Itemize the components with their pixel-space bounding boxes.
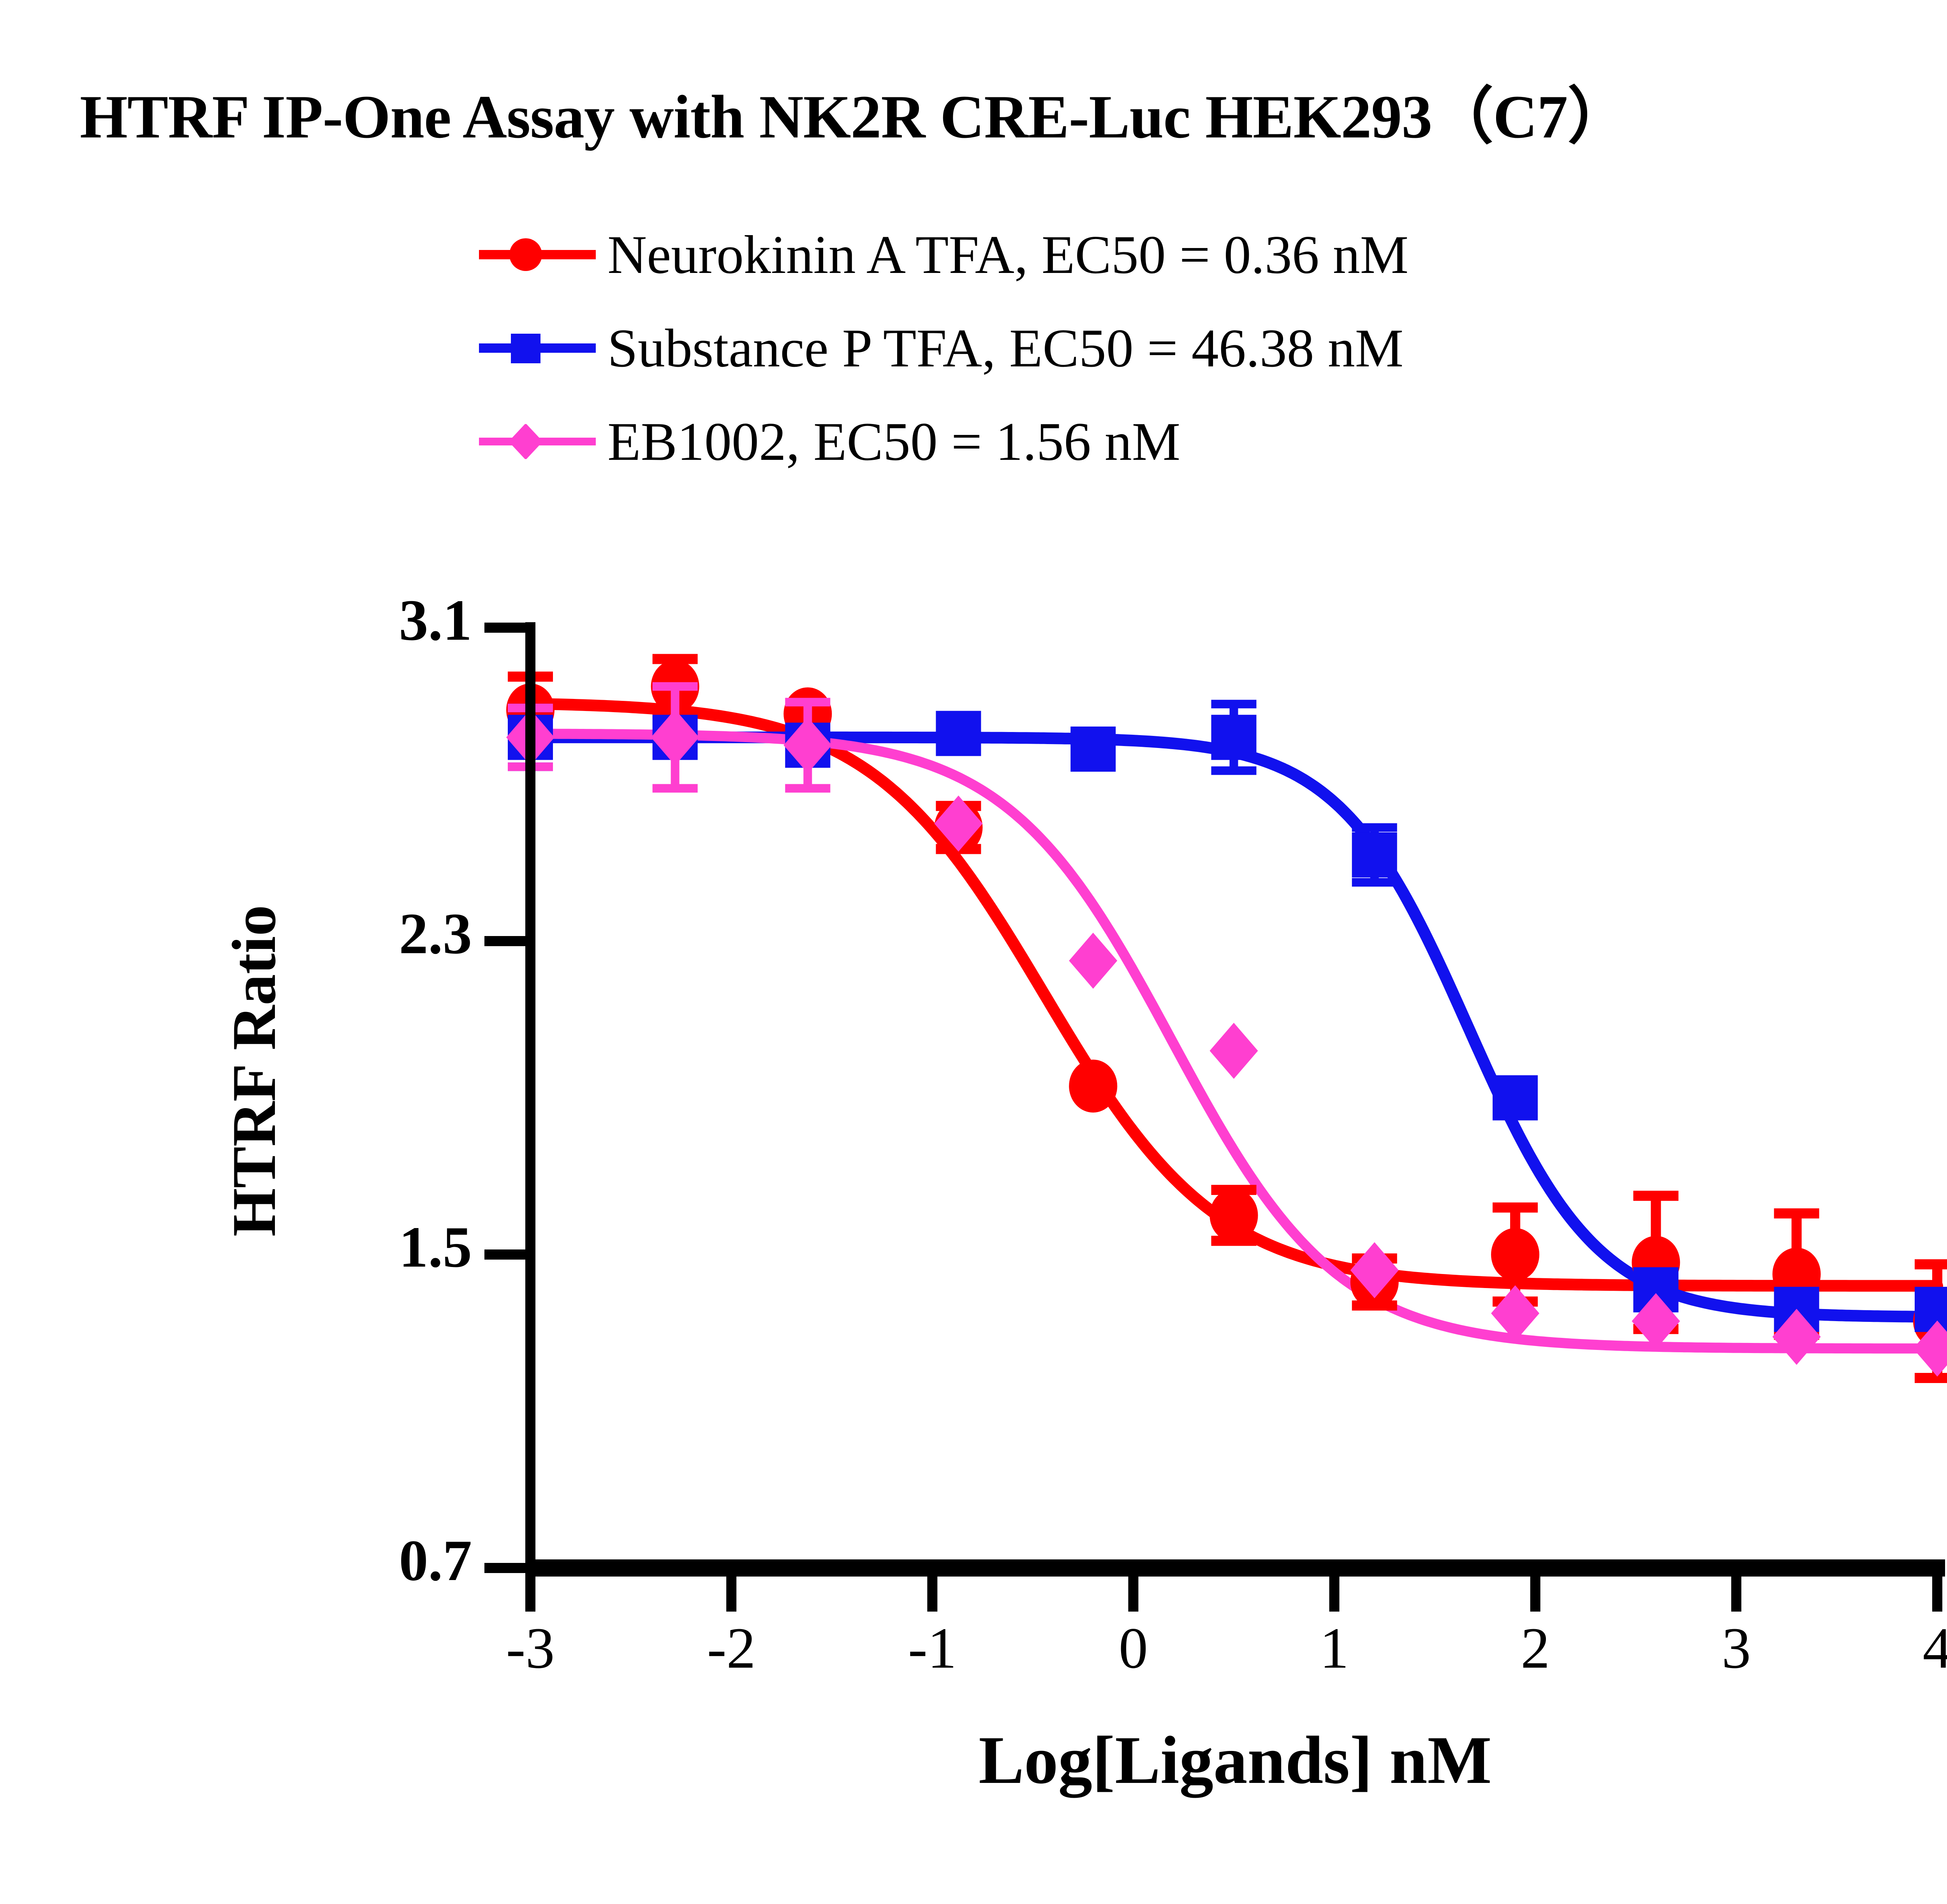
data-point-square[interactable] bbox=[1070, 727, 1116, 772]
data-point-square[interactable] bbox=[1211, 715, 1257, 760]
data-point-square[interactable] bbox=[936, 711, 981, 756]
data-point-square[interactable] bbox=[1915, 1287, 1947, 1332]
data-point-square[interactable] bbox=[1352, 832, 1397, 878]
x-tick-label: 4 bbox=[1859, 1615, 1947, 1682]
data-point-circle[interactable] bbox=[1491, 1228, 1539, 1281]
x-axis-label: Log[Ligands] nM bbox=[530, 1721, 1940, 1799]
x-tick-label: -3 bbox=[452, 1615, 608, 1682]
chart-page: HTRF IP-One Assay with NK2R CRE-Luc HEK2… bbox=[0, 0, 1947, 1904]
x-tick-label: -1 bbox=[854, 1615, 1010, 1682]
y-tick-label: 0.7 bbox=[223, 1527, 472, 1594]
x-tick-label: 1 bbox=[1257, 1615, 1412, 1682]
data-point-square[interactable] bbox=[1493, 1075, 1538, 1121]
data-point-diamond[interactable] bbox=[1069, 933, 1117, 989]
x-tick-label: 3 bbox=[1658, 1615, 1814, 1682]
x-tick-label: 0 bbox=[1055, 1615, 1211, 1682]
x-tick-label: 2 bbox=[1458, 1615, 1613, 1682]
data-point-circle[interactable] bbox=[1069, 1059, 1117, 1112]
data-point-diamond[interactable] bbox=[1210, 1023, 1258, 1079]
data-point-circle[interactable] bbox=[1210, 1189, 1258, 1242]
y-axis-label: HTRF Ratio bbox=[218, 195, 290, 779]
x-tick-label: -2 bbox=[653, 1615, 809, 1682]
y-axis-label-text: HTRF Ratio bbox=[218, 779, 290, 1363]
